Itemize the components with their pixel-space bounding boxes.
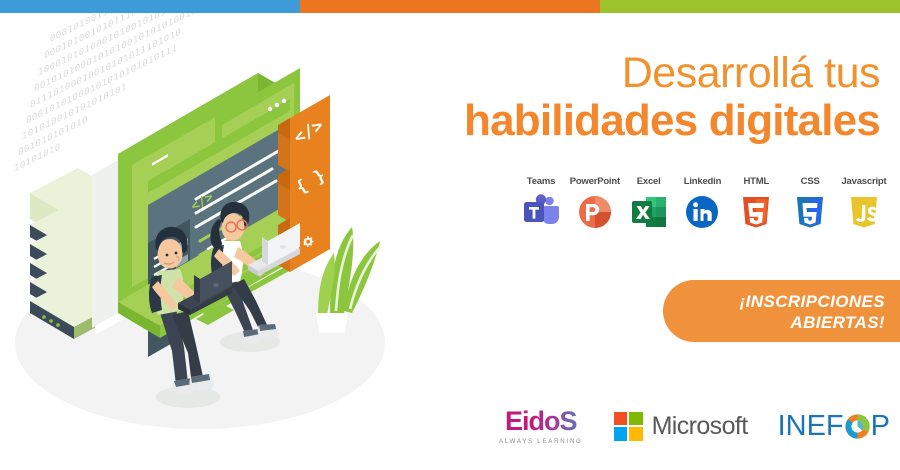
tech-label-powerpoint: PowerPoint (570, 176, 620, 187)
enrollment-cta-badge[interactable]: ¡INSCRIPCIONES ABIERTAS! (663, 280, 900, 342)
microsoft-squares-icon (614, 412, 643, 441)
tech-label-javascript: Javascript (841, 176, 886, 187)
tech-label-teams: Teams (527, 176, 555, 187)
logo-inefop-suffix: P (871, 410, 890, 443)
cta-line-1: ¡INSCRIPCIONES (663, 291, 885, 312)
html5-icon (737, 193, 775, 231)
topbar-segment-green (600, 0, 900, 13)
logo-microsoft-wordmark: Microsoft (652, 412, 748, 441)
page-title: Desarrollá tus habilidades digitales (380, 52, 880, 143)
tech-item-powerpoint: PowerPoint (569, 176, 621, 231)
microsoft-square-green (629, 412, 642, 425)
tech-label-excel: Excel (637, 176, 661, 187)
topbar-segment-blue (0, 0, 300, 13)
tech-item-javascript: Javascript (838, 176, 890, 231)
microsoft-powerpoint-icon (576, 193, 614, 231)
tech-item-excel: Excel (623, 176, 675, 231)
tech-item-linkedin: Linkedin (676, 176, 728, 231)
microsoft-square-blue (614, 427, 627, 440)
logo-eidos-tagline: ALWAYS LEARNING (490, 438, 592, 445)
microsoft-square-red (614, 412, 627, 425)
tech-item-teams: Teams (515, 176, 567, 231)
top-color-bar (0, 0, 900, 13)
microsoft-square-yellow (629, 427, 642, 440)
logo-microsoft: Microsoft (614, 412, 748, 441)
tech-label-html: HTML (744, 176, 770, 187)
css3-icon (791, 193, 829, 231)
inefop-swirl-icon (844, 413, 871, 440)
tech-label-css: CSS (801, 176, 820, 187)
isometric-coding-illustration: 0001010011101010001010101 00010100101011… (0, 13, 420, 470)
headline-line-1: Desarrollá tus (380, 52, 880, 95)
logo-eidos-wordmark: EidoS (490, 408, 592, 435)
microsoft-excel-icon (630, 193, 668, 231)
javascript-icon (845, 193, 883, 231)
linkedin-icon (683, 193, 721, 231)
technology-list: Teams PowerPoint (515, 176, 890, 231)
tech-item-css: CSS (784, 176, 836, 231)
tech-label-linkedin: Linkedin (684, 176, 721, 187)
cta-line-2: ABIERTAS! (663, 312, 885, 333)
microsoft-teams-icon (522, 193, 560, 231)
headline-line-2: habilidades digitales (380, 99, 880, 143)
tech-item-html: HTML (730, 176, 782, 231)
partner-logos: EidoS ALWAYS LEARNING Microsoft INEF (490, 400, 890, 452)
promo-banner: 0001010011101010001010101 00010100101011… (0, 0, 900, 470)
logo-inefop-prefix: INEF (778, 410, 844, 443)
logo-inefop: INEF P (778, 410, 890, 443)
topbar-segment-orange (300, 0, 600, 13)
logo-eidos: EidoS ALWAYS LEARNING (490, 408, 592, 445)
